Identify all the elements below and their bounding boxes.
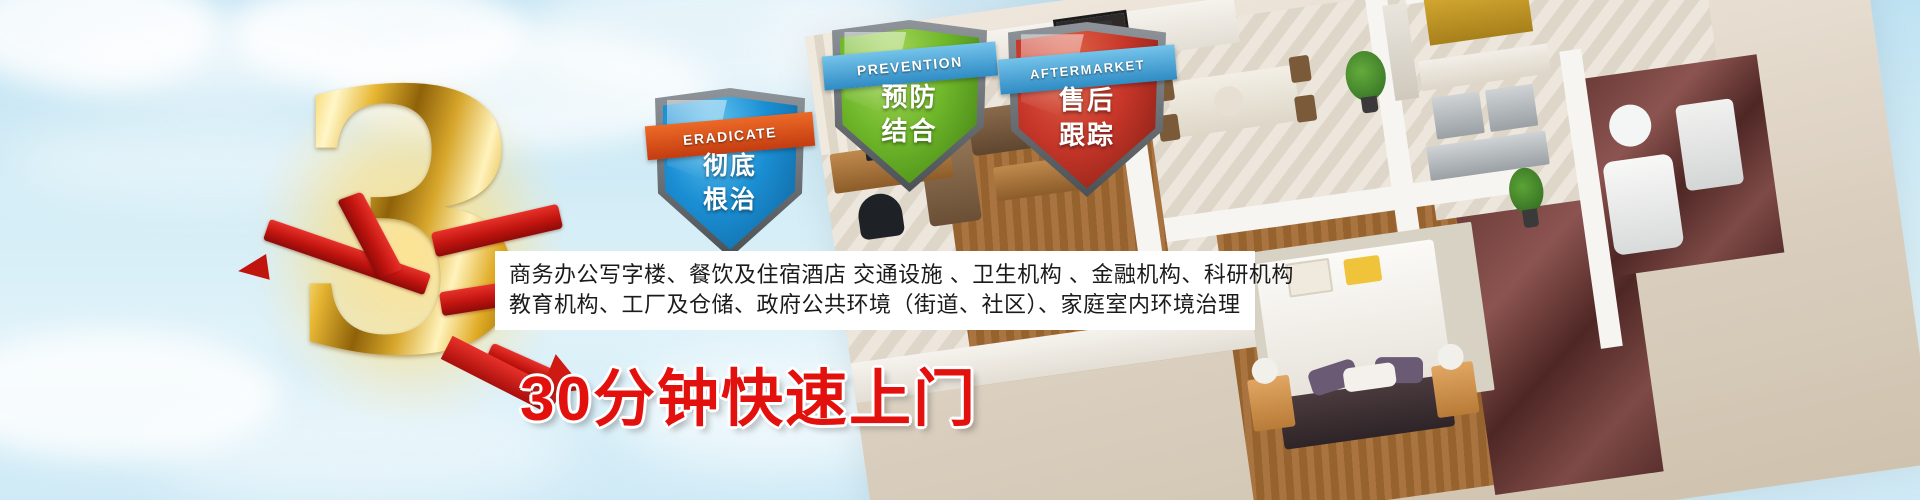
ribbon-tail xyxy=(236,254,269,284)
shield-chinese-line2: 结合 xyxy=(832,118,987,145)
shield-chinese-line1: 预防 xyxy=(832,84,987,111)
shield-chinese-line2: 跟踪 xyxy=(1008,122,1166,149)
shield-sash-label: AFTERMARKET xyxy=(1029,57,1145,82)
promo-banner: 3 ERADICATE 彻底 根治 PREVENTION 预防 结合 xyxy=(0,0,1920,500)
headline-text: 30分钟快速上门 xyxy=(520,348,977,438)
shield-badge-aftermarket: AFTERMARKET 售后 跟踪 xyxy=(1008,22,1166,197)
shield-chinese-line1: 彻底 xyxy=(655,153,805,179)
shield-sash-label: PREVENTION xyxy=(856,54,963,79)
service-scope-line-2: 教育机构、工厂及仓储、政府公共环境（街道、社区）、家庭室内环境治理 xyxy=(509,290,1241,320)
shield-chinese-line2: 根治 xyxy=(655,187,805,213)
shield-sash-label: ERADICATE xyxy=(682,124,777,148)
service-scope-line-1: 商务办公写字楼、餐饮及住宿酒店 交通设施 、卫生机构 、金融机构、科研机构 xyxy=(509,260,1241,290)
service-scope-panel: 商务办公写字楼、餐饮及住宿酒店 交通设施 、卫生机构 、金融机构、科研机构 教育… xyxy=(495,251,1255,330)
shield-badge-prevention: PREVENTION 预防 结合 xyxy=(832,20,987,192)
shield-badge-eradicate: ERADICATE 彻底 根治 xyxy=(655,88,805,258)
shield-chinese-line1: 售后 xyxy=(1008,87,1166,114)
